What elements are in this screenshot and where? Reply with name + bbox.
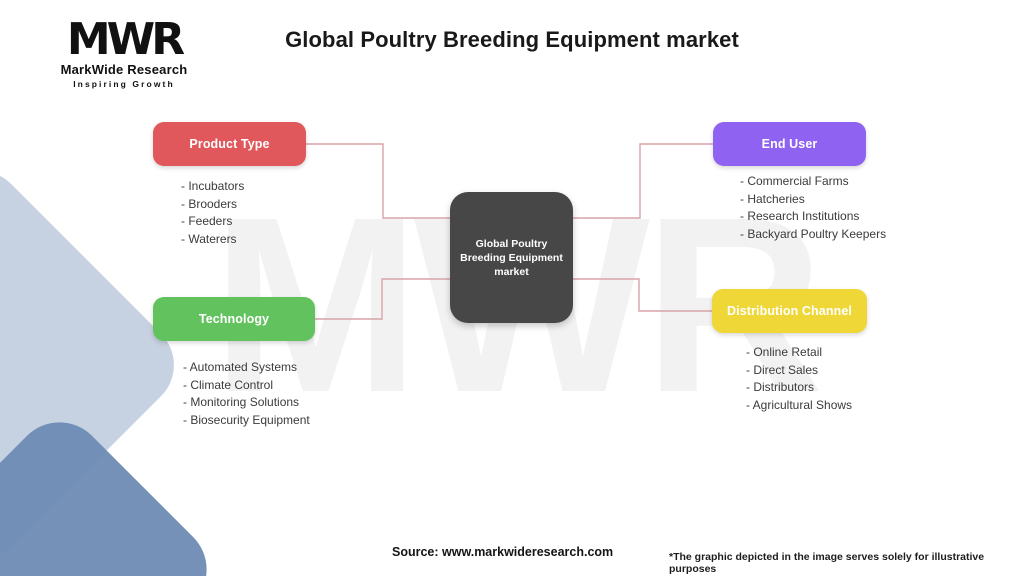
list-item: - Distributors xyxy=(746,379,852,397)
branch-items-technology: - Automated Systems - Climate Control - … xyxy=(183,359,310,429)
branch-box-end-user[interactable]: End User xyxy=(713,122,866,166)
connector-product-type xyxy=(306,144,450,218)
center-node-line-1: Global Poultry xyxy=(452,237,571,251)
center-node[interactable]: Global Poultry Breeding Equipment market xyxy=(450,192,573,323)
connector-end-user xyxy=(573,144,713,218)
branch-label-technology: Technology xyxy=(199,312,269,326)
list-item: - Automated Systems xyxy=(183,359,310,377)
branch-box-distribution-channel[interactable]: Distribution Channel xyxy=(712,289,867,333)
branch-box-technology[interactable]: Technology xyxy=(153,297,315,341)
branch-box-product-type[interactable]: Product Type xyxy=(153,122,306,166)
connector-technology xyxy=(315,279,450,319)
list-item: - Incubators xyxy=(181,178,244,196)
slide-canvas: MWR MWR MarkWide Research Inspiring Grow… xyxy=(0,0,1024,576)
list-item: - Climate Control xyxy=(183,377,310,395)
list-item: - Commercial Farms xyxy=(740,173,886,191)
list-item: - Monitoring Solutions xyxy=(183,394,310,412)
list-item: - Hatcheries xyxy=(740,191,886,209)
list-item: - Backyard Poultry Keepers xyxy=(740,226,886,244)
list-item: - Feeders xyxy=(181,213,244,231)
list-item: - Agricultural Shows xyxy=(746,397,852,415)
center-node-line-2: Breeding Equipment xyxy=(452,251,571,265)
list-item: - Brooders xyxy=(181,196,244,214)
list-item: - Biosecurity Equipment xyxy=(183,412,310,430)
list-item: - Waterers xyxy=(181,231,244,249)
source-text: Source: www.markwideresearch.com xyxy=(392,545,613,559)
branch-items-end-user: - Commercial Farms - Hatcheries - Resear… xyxy=(740,173,886,243)
list-item: - Research Institutions xyxy=(740,208,886,226)
list-item: - Online Retail xyxy=(746,344,852,362)
list-item: - Direct Sales xyxy=(746,362,852,380)
disclaimer-text: *The graphic depicted in the image serve… xyxy=(669,551,1024,575)
branch-label-end-user: End User xyxy=(762,137,818,151)
branch-items-distribution-channel: - Online Retail - Direct Sales - Distrib… xyxy=(746,344,852,414)
center-node-line-3: market xyxy=(452,265,571,279)
branch-label-product-type: Product Type xyxy=(189,137,269,151)
branch-items-product-type: - Incubators - Brooders - Feeders - Wate… xyxy=(181,178,244,248)
connector-distribution-channel xyxy=(573,279,712,311)
branch-label-distribution-channel: Distribution Channel xyxy=(727,304,852,318)
